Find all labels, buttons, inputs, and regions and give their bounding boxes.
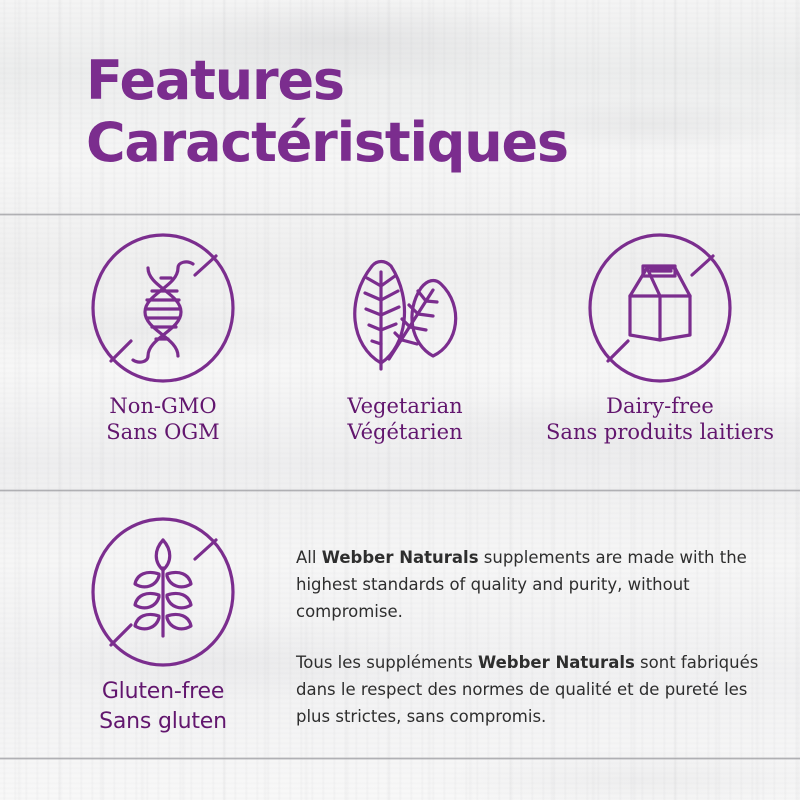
title-line-en: Features [86, 50, 726, 112]
copy-en-before: All [296, 548, 322, 567]
no-dairy-milk-carton-icon [530, 228, 790, 393]
feature-label-en: Dairy-free [530, 393, 790, 419]
title-line-fr: Caractéristiques [86, 112, 726, 174]
feature-label-fr: Sans gluten [48, 707, 278, 737]
feature-vegetarian: Vegetarian Végétarien [290, 228, 520, 445]
feature-dairy-free: Dairy-free Sans produits laitiers [530, 228, 790, 445]
feature-label-fr: Végétarien [290, 419, 520, 445]
brand-name: Webber Naturals [322, 548, 479, 567]
plank-seam [0, 757, 800, 760]
feature-label-fr: Sans produits laitiers [530, 419, 790, 445]
no-gluten-wheat-icon [48, 512, 278, 677]
paragraph-fr: Tous les suppléments Webber Naturals son… [296, 649, 766, 730]
paragraph-en: All Webber Naturals supplements are made… [296, 544, 766, 625]
copy-fr-before: Tous les suppléments [296, 653, 478, 672]
vegetarian-leaves-icon [290, 228, 520, 393]
page-title: Features Caractéristiques [86, 50, 726, 174]
feature-label-en: Non-GMO [48, 393, 278, 419]
feature-non-gmo: Non-GMO Sans OGM [48, 228, 278, 445]
body-copy: All Webber Naturals supplements are made… [296, 544, 766, 730]
feature-label-en: Vegetarian [290, 393, 520, 419]
feature-panel: Features Caractéristiques [0, 0, 800, 800]
feature-label-en: Gluten-free [48, 677, 278, 707]
plank-seam [0, 489, 800, 492]
no-gmo-dna-icon [48, 228, 278, 393]
brand-name: Webber Naturals [478, 653, 635, 672]
feature-label-fr: Sans OGM [48, 419, 278, 445]
feature-gluten-free: Gluten-free Sans gluten [48, 512, 278, 737]
plank-seam [0, 213, 800, 216]
